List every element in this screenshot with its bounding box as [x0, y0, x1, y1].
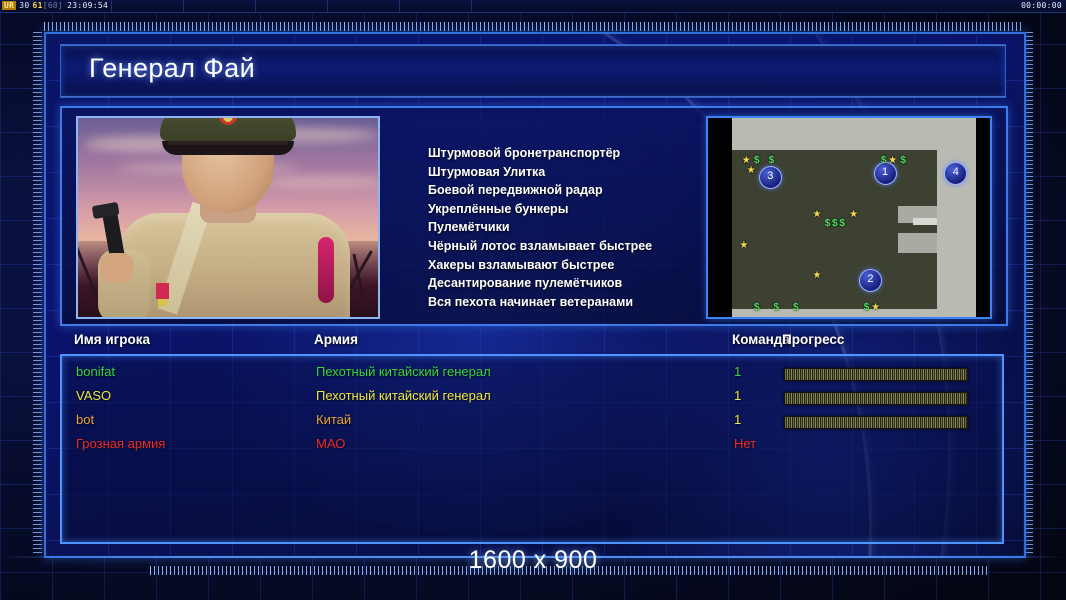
minimap-supply-marker: $ — [769, 156, 775, 166]
status-label: UR — [2, 1, 16, 10]
status-clock: 23:09:54 — [67, 1, 108, 10]
player-name: bot — [76, 412, 94, 427]
minimap-tech-marker: ★ — [849, 210, 858, 220]
ruler-left — [33, 32, 42, 554]
bonus-item: Вся пехота начинает ветеранами — [428, 293, 732, 312]
table-row[interactable]: bonifat Пехотный китайский генерал 1 — [62, 364, 1002, 388]
general-info-window: Генерал Фай — [44, 32, 1026, 558]
minimap-supply-marker: $ — [754, 156, 760, 166]
system-status-bar: UR3061[60]23:09:54 00:00:00 — [0, 0, 1066, 13]
player-army: Пехотный китайский генерал — [316, 364, 491, 379]
minimap-tech-marker: ★ — [813, 271, 822, 281]
minimap-supply-marker: $ — [832, 219, 838, 229]
player-team: 1 — [734, 412, 741, 427]
minimap-tech-marker: ★ — [739, 241, 748, 251]
table-row[interactable]: Грозная армия МАО Нет — [62, 436, 1002, 460]
bonus-item: Пулемётчики — [428, 218, 732, 237]
game-lobby-screen: UR3061[60]23:09:54 00:00:00 Генерал Фай — [0, 0, 1066, 600]
bonus-item: Десантирование пулемётчиков — [428, 274, 732, 293]
status-value-2: 61 — [32, 1, 42, 10]
ruler-top — [44, 22, 1022, 31]
bonus-item: Боевой передвижной радар — [428, 181, 732, 200]
general-bonus-list: Штурмовой бронетранспортёр Штурмовая Ули… — [388, 144, 732, 311]
minimap-supply-marker: $ — [793, 303, 799, 313]
status-bar-stats: UR3061[60]23:09:54 — [0, 0, 108, 12]
minimap-start-position[interactable]: 3 — [759, 166, 782, 189]
player-army: Пехотный китайский генерал — [316, 388, 491, 403]
player-army: МАО — [316, 436, 345, 451]
player-army: Китай — [316, 412, 351, 427]
minimap-supply-marker: $ — [864, 303, 870, 313]
minimap-supply-marker: $ — [839, 219, 845, 229]
minimap-supply-marker: $ — [825, 219, 831, 229]
minimap-preview[interactable]: 3 1 2 4 ★ ★ ★ ★ ★ ★ ★ ★ $ $ $ $ $ — [706, 116, 992, 319]
portrait-uniform — [118, 213, 350, 319]
player-progress-bar — [784, 392, 968, 405]
bonus-item: Штурмовой бронетранспортёр — [428, 144, 732, 163]
minimap-tech-marker: ★ — [813, 210, 822, 220]
player-list-body: bonifat Пехотный китайский генерал 1 VAS… — [60, 354, 1004, 544]
minimap-supply-marker: $ — [881, 156, 887, 166]
minimap-tech-marker: ★ — [871, 303, 880, 313]
player-progress-bar — [784, 416, 968, 429]
table-row[interactable]: bot Китай 1 — [62, 412, 1002, 436]
player-team: 1 — [734, 364, 741, 379]
page-title: Генерал Фай — [89, 53, 255, 84]
window-title-bar: Генерал Фай — [60, 44, 1006, 98]
column-header-name: Имя игрока — [74, 332, 150, 347]
player-list: Имя игрока Армия Команда Прогресс bonifa… — [60, 332, 1004, 542]
player-progress-bar — [784, 368, 968, 381]
status-value-1: 30 — [19, 1, 29, 10]
column-header-army: Армия — [314, 332, 358, 347]
minimap-start-position[interactable]: 2 — [859, 269, 882, 292]
table-row[interactable]: VASO Пехотный китайский генерал 1 — [62, 388, 1002, 412]
resolution-caption: 1600 x 900 — [0, 546, 1066, 575]
player-list-header: Имя игрока Армия Команда Прогресс — [60, 332, 1004, 354]
player-team: 1 — [734, 388, 741, 403]
player-name: bonifat — [76, 364, 115, 379]
status-right-clock: 00:00:00 — [1021, 0, 1062, 12]
minimap-tech-marker: ★ — [888, 156, 897, 166]
player-name: VASO — [76, 388, 111, 403]
general-info-panel: Штурмовой бронетранспортёр Штурмовая Ули… — [60, 106, 1008, 326]
minimap-supply-marker: $ — [754, 303, 760, 313]
bonus-item: Чёрный лотос взламывает быстрее — [428, 237, 732, 256]
player-name: Грозная армия — [76, 436, 165, 451]
column-header-progress: Прогресс — [782, 332, 844, 347]
player-team: Нет — [734, 436, 756, 451]
minimap-tech-marker: ★ — [747, 166, 756, 176]
general-portrait — [76, 116, 380, 319]
status-value-3: [60] — [43, 1, 63, 10]
minimap-supply-marker: $ — [900, 156, 906, 166]
minimap-background: 3 1 2 4 ★ ★ ★ ★ ★ ★ ★ ★ $ $ $ $ $ — [732, 118, 976, 317]
bonus-item: Укреплённые бункеры — [428, 200, 732, 219]
bonus-item: Штурмовая Улитка — [428, 163, 732, 182]
minimap-supply-marker: $ — [773, 303, 779, 313]
minimap-start-position[interactable]: 4 — [944, 162, 967, 185]
bonus-item: Хакеры взламывают быстрее — [428, 256, 732, 275]
